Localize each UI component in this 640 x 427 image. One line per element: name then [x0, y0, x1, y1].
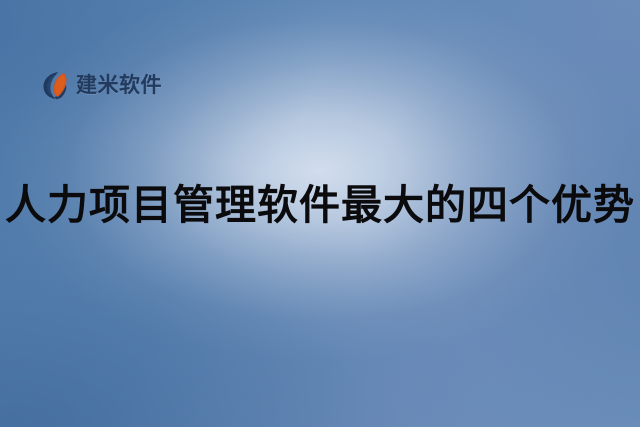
title-slide: 建米软件 人力项目管理软件最大的四个优势	[0, 0, 640, 427]
jianmi-leaf-mark-icon	[42, 71, 72, 100]
brand-logo[interactable]: 建米软件	[42, 67, 162, 103]
slide-headline: 人力项目管理软件最大的四个优势	[0, 183, 640, 229]
brand-logo-text: 建米软件	[76, 75, 162, 96]
